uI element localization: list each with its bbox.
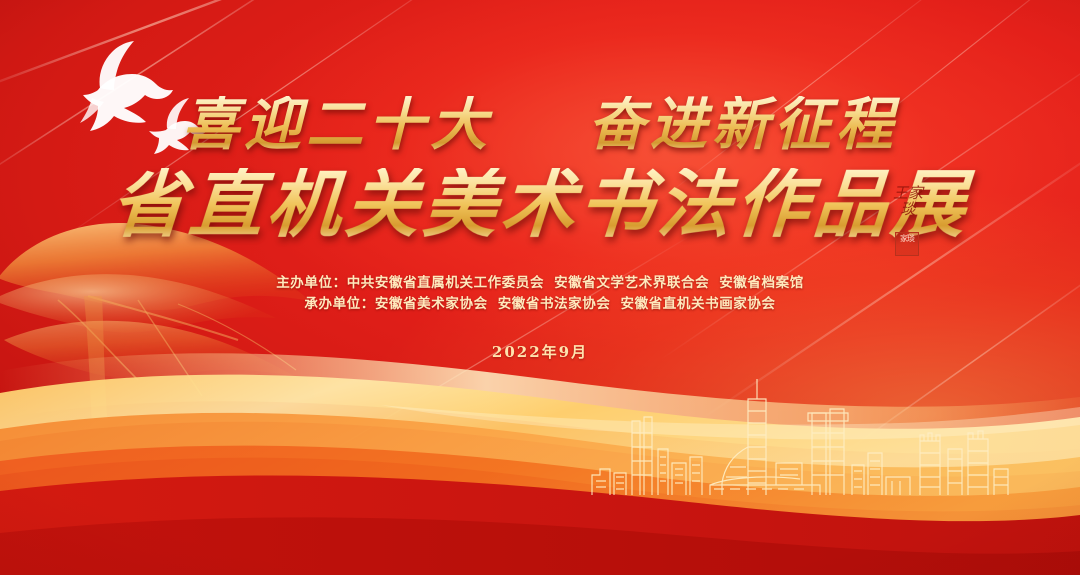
- coorganizer-line: 承办单位：安徽省美术家协会安徽省书法家协会安徽省直机关书画家协会: [0, 294, 1080, 315]
- organizer-block: 主办单位：中共安徽省直属机关工作委员会安徽省文学艺术界联合会安徽省档案馆 承办单…: [0, 273, 1080, 315]
- calligrapher-signature: 王家琰: [886, 186, 930, 218]
- coorganizer-label: 承办单位：: [304, 296, 375, 312]
- title-main-right: 奋进新征程: [588, 91, 898, 158]
- poster-content: 喜迎二十大 奋进新征程 省直机关美术书法作品展 王家琰 家琰 主办单位：中共安徽…: [0, 0, 1080, 575]
- coorganizer-0: 安徽省美术家协会: [375, 296, 488, 312]
- organizer-line: 主办单位：中共安徽省直属机关工作委员会安徽省文学艺术界联合会安徽省档案馆: [0, 273, 1080, 294]
- poster-banner: 喜迎二十大 奋进新征程 省直机关美术书法作品展 王家琰 家琰 主办单位：中共安徽…: [0, 0, 1080, 575]
- red-seal-stamp: 家琰: [895, 232, 919, 256]
- organizer-0: 中共安徽省直属机关工作委员会: [347, 275, 544, 291]
- coorganizer-1: 安徽省书法家协会: [498, 296, 611, 312]
- title-main-left: 喜迎二十大: [182, 91, 492, 158]
- organizer-1: 安徽省文学艺术界联合会: [554, 275, 709, 291]
- organizer-2: 安徽省档案馆: [719, 275, 804, 291]
- organizer-label: 主办单位：: [276, 275, 347, 291]
- event-date: 2022年9月: [0, 341, 1080, 362]
- page-title: 喜迎二十大 奋进新征程: [0, 96, 1080, 153]
- coorganizer-2: 安徽省直机关书画家协会: [621, 296, 776, 312]
